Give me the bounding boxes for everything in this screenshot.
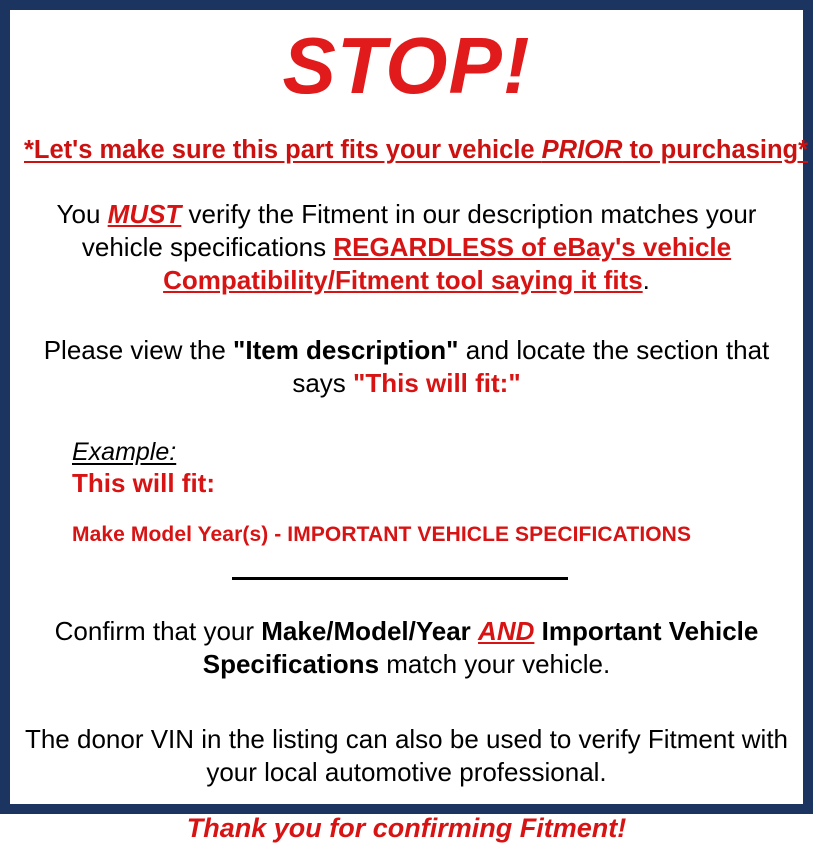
notice-body: STOP! *Let's make sure this part fits yo… — [24, 26, 789, 820]
example-label: Example: — [72, 438, 789, 467]
section-divider — [232, 577, 568, 580]
emphasis-must: MUST — [108, 199, 182, 229]
paragraph-confirm-match: Confirm that your Make/Model/Year AND Im… — [24, 615, 789, 681]
itemdesc-text-leading: Please view the — [44, 335, 233, 365]
confirm-text-leading: Confirm that your — [55, 616, 262, 646]
example-spec-line: Make Model Year(s) - IMPORTANT VEHICLE S… — [72, 522, 789, 547]
closing-thank-you: Thank you for confirming Fitment! — [24, 812, 789, 844]
bold-make-model-year: Make/Model/Year — [261, 616, 471, 646]
subtitle-text-trailing: to purchasing* — [622, 136, 808, 164]
must-text-trailing: . — [643, 265, 650, 295]
fitment-notice-card: STOP! *Let's make sure this part fits yo… — [0, 0, 813, 814]
subtitle-banner: *Let's make sure this part fits your veh… — [24, 136, 789, 164]
must-text-leading: You — [57, 199, 108, 229]
confirm-text-trailing: match your vehicle. — [379, 649, 610, 679]
quoted-item-description: "Item description" — [233, 335, 458, 365]
subtitle-text-leading: *Let's make sure this part fits your veh… — [24, 136, 542, 164]
paragraph-item-description: Please view the "Item description" and l… — [24, 334, 789, 400]
paragraph-donor-vin: The donor VIN in the listing can also be… — [24, 723, 789, 789]
example-block: Example: This will fit: Make Model Year(… — [24, 438, 789, 548]
subtitle-emphasis-prior: PRIOR — [542, 136, 623, 164]
emphasis-and: AND — [478, 616, 534, 646]
section-divider-wrap — [24, 573, 789, 585]
example-will-fit-heading: This will fit: — [72, 468, 789, 499]
page-title: STOP! — [24, 26, 789, 106]
paragraph-must-verify: You MUST verify the Fitment in our descr… — [24, 198, 789, 296]
confirm-space-1 — [471, 616, 478, 646]
quoted-this-will-fit: "This will fit:" — [353, 368, 521, 398]
confirm-space-2 — [534, 616, 541, 646]
